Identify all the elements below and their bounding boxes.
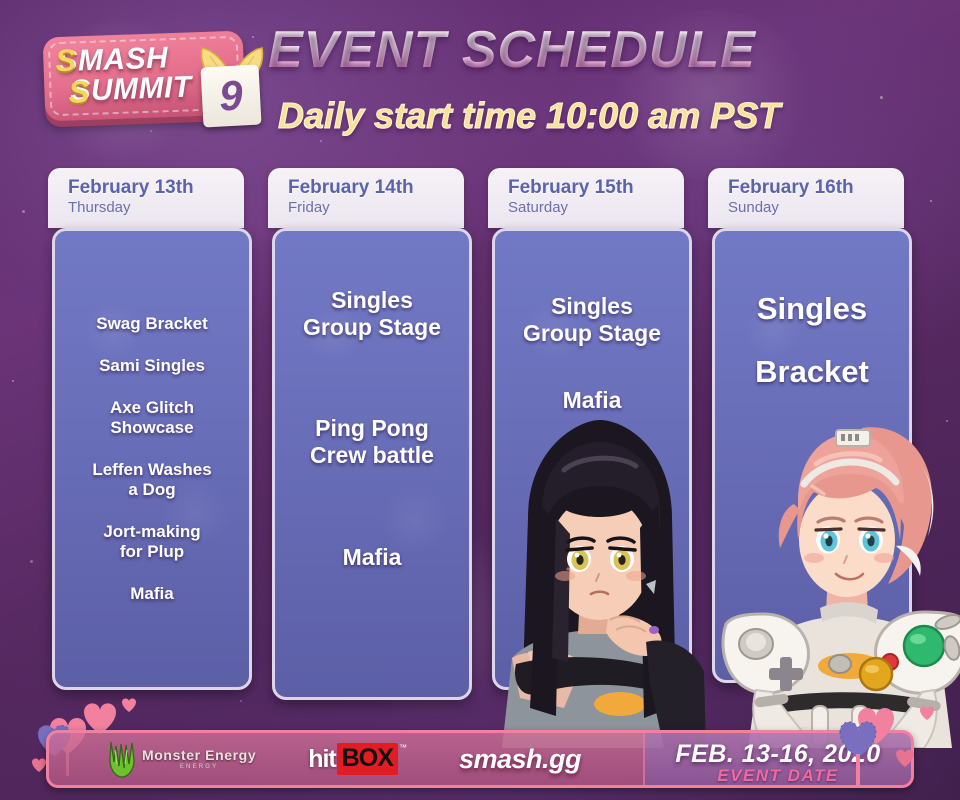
sponsor-name: Monster Energy xyxy=(142,748,256,762)
event-item: Singles xyxy=(757,291,867,328)
event-item: Mafia xyxy=(563,387,622,414)
poster-header: SMASH SUMMIT S S 9 EVENT SCHEDULE xyxy=(0,0,960,158)
sponsor-tagline: ENERGY xyxy=(180,764,219,770)
day-event-card: Swag Bracket Sami Singles Axe GlitchShow… xyxy=(52,228,252,690)
schedule-column-sunday: February 16th Sunday Singles Bracket xyxy=(708,168,928,683)
event-item: Bracket xyxy=(755,354,869,391)
page-title: EVENT SCHEDULE xyxy=(268,20,756,80)
event-item: Swag Bracket xyxy=(96,314,208,334)
sponsor-hitbox[interactable]: hit BOX ™ xyxy=(308,743,407,775)
poster-footer: Monster Energy ENERGY hit BOX ™ smash.gg… xyxy=(0,708,960,800)
day-header: February 14th Friday xyxy=(268,168,464,228)
day-weekday: Friday xyxy=(288,199,464,217)
edition-badge: 9 xyxy=(196,50,266,126)
event-date-panel: FEB. 13-16, 2020 EVENT DATE xyxy=(643,733,911,785)
event-item: Mafia xyxy=(130,584,173,604)
event-list: Singles Bracket xyxy=(715,231,909,680)
event-item: Sami Singles xyxy=(99,356,205,376)
day-date: February 13th xyxy=(68,177,244,199)
event-item: Leffen Washesa Dog xyxy=(92,460,211,500)
event-item: Axe GlitchShowcase xyxy=(110,398,194,438)
event-schedule-poster: SMASH SUMMIT S S 9 EVENT SCHEDULE xyxy=(0,0,960,800)
event-item: Mafia xyxy=(343,544,402,571)
event-list: SinglesGroup Stage Ping PongCrew battle … xyxy=(275,231,469,697)
sponsor-bar: Monster Energy ENERGY hit BOX ™ smash.gg… xyxy=(46,730,914,788)
hitbox-trademark: ™ xyxy=(399,743,407,752)
day-event-card: SinglesGroup Stage Mafia xyxy=(492,228,692,690)
page-subtitle: Daily start time 10:00 am PST xyxy=(278,95,780,137)
monster-wordmark: Monster Energy ENERGY xyxy=(142,748,256,770)
event-item: Jort-makingfor Plup xyxy=(103,522,200,562)
schedule-grid: February 13th Thursday Swag Bracket Sami… xyxy=(0,168,960,708)
smash-summit-logo: SMASH SUMMIT S S 9 xyxy=(44,26,259,126)
day-weekday: Saturday xyxy=(508,199,684,217)
day-date: February 16th xyxy=(728,177,904,199)
schedule-column-friday: February 14th Friday SinglesGroup Stage … xyxy=(268,168,488,700)
sponsor-monster-energy[interactable]: Monster Energy ENERGY xyxy=(107,740,256,778)
event-item: SinglesGroup Stage xyxy=(523,293,661,347)
hitbox-box-text: BOX xyxy=(337,743,398,775)
monster-claw-icon xyxy=(107,740,137,778)
day-weekday: Thursday xyxy=(68,199,244,217)
schedule-column-thursday: February 13th Thursday Swag Bracket Sami… xyxy=(48,168,268,690)
event-item: Ping PongCrew battle xyxy=(310,415,434,469)
event-list: SinglesGroup Stage Mafia xyxy=(495,231,689,687)
edition-number: 9 xyxy=(200,65,261,128)
sponsor-list: Monster Energy ENERGY hit BOX ™ smash.gg xyxy=(107,733,581,785)
event-list: Swag Bracket Sami Singles Axe GlitchShow… xyxy=(55,231,249,687)
day-date: February 14th xyxy=(288,177,464,199)
day-event-card: SinglesGroup Stage Ping PongCrew battle … xyxy=(272,228,472,700)
sponsor-smashgg[interactable]: smash.gg xyxy=(459,744,581,775)
schedule-column-saturday: February 15th Saturday SinglesGroup Stag… xyxy=(488,168,708,690)
day-header: February 16th Sunday xyxy=(708,168,904,228)
day-event-card: Singles Bracket xyxy=(712,228,912,683)
day-date: February 15th xyxy=(508,177,684,199)
day-header: February 13th Thursday xyxy=(48,168,244,228)
hitbox-hit-text: hit xyxy=(308,745,336,774)
day-header: February 15th Saturday xyxy=(488,168,684,228)
event-date-label: EVENT DATE xyxy=(645,766,911,786)
event-date: FEB. 13-16, 2020 xyxy=(645,740,911,769)
event-item: SinglesGroup Stage xyxy=(303,287,441,341)
day-weekday: Sunday xyxy=(728,199,904,217)
